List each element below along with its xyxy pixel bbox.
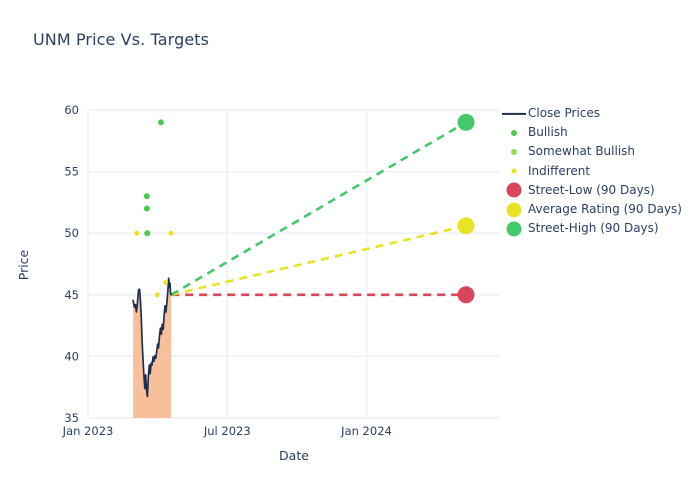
legend-item-label: Somewhat Bullish	[528, 142, 635, 161]
legend-item[interactable]: Average Rating (90 Days)	[500, 200, 698, 219]
dot-swatch-icon	[511, 130, 517, 136]
line-swatch-icon	[502, 113, 526, 115]
area-fill	[133, 278, 171, 418]
x-tick-label: Jul 2023	[203, 424, 251, 438]
y-axis-tick-labels: 354045505560	[64, 103, 79, 425]
price-area-fill	[133, 278, 171, 418]
scatter-points[interactable]	[134, 119, 173, 297]
y-tick-label: 60	[64, 103, 79, 117]
chart-page: UNM Price Vs. Targets 354045505560 Jan 2…	[0, 0, 700, 500]
legend-dot-icon	[500, 219, 528, 238]
legend-dot-icon	[500, 123, 528, 142]
dot-swatch-icon	[507, 183, 522, 198]
legend-dot-icon	[500, 142, 528, 161]
scatter-point[interactable]	[163, 280, 168, 285]
legend-item-label: Average Rating (90 Days)	[528, 200, 682, 219]
target-dashed-line	[171, 226, 466, 295]
legend-dot-icon	[500, 162, 528, 181]
y-tick-label: 35	[64, 411, 79, 425]
dot-swatch-icon	[512, 169, 517, 174]
y-tick-label: 55	[64, 165, 79, 179]
legend-dot-icon	[500, 181, 528, 200]
scatter-point[interactable]	[158, 119, 164, 125]
legend-item-label: Indifferent	[528, 162, 590, 181]
x-tick-label: Jan 2024	[340, 424, 392, 438]
legend-item[interactable]: Indifferent	[500, 162, 698, 181]
chart-legend: Close PricesBullishSomewhat BullishIndif…	[500, 104, 698, 238]
legend-dot-icon	[500, 200, 528, 219]
legend-item-label: Bullish	[528, 123, 568, 142]
legend-item[interactable]: Bullish	[500, 123, 698, 142]
target-dashed-line	[171, 122, 466, 294]
legend-item[interactable]: Street-High (90 Days)	[500, 219, 698, 238]
scatter-point[interactable]	[144, 206, 150, 212]
y-tick-label: 40	[64, 349, 79, 363]
legend-line-icon	[500, 104, 528, 123]
scatter-point[interactable]	[144, 230, 150, 236]
x-gridlines	[88, 110, 367, 418]
target-lines	[171, 122, 466, 294]
scatter-point[interactable]	[144, 193, 150, 199]
y-tick-label: 45	[64, 288, 79, 302]
legend-item[interactable]: Street-Low (90 Days)	[500, 181, 698, 200]
target-markers[interactable]	[458, 114, 475, 303]
target-marker[interactable]	[458, 286, 475, 303]
scatter-point[interactable]	[134, 231, 139, 236]
x-axis-title: Date	[279, 448, 309, 463]
dot-swatch-icon	[511, 149, 517, 155]
legend-item[interactable]: Close Prices	[500, 104, 698, 123]
x-axis-tick-labels: Jan 2023Jul 2023Jan 2024	[62, 424, 392, 438]
legend-item-label: Street-High (90 Days)	[528, 219, 659, 238]
dot-swatch-icon	[507, 221, 522, 236]
x-tick-label: Jan 2023	[62, 424, 114, 438]
scatter-point[interactable]	[155, 292, 160, 297]
legend-item-label: Close Prices	[528, 104, 600, 123]
scatter-point[interactable]	[169, 231, 174, 236]
y-axis-title: Price	[16, 249, 31, 280]
y-tick-label: 50	[64, 226, 79, 240]
legend-item[interactable]: Somewhat Bullish	[500, 142, 698, 161]
target-marker[interactable]	[458, 114, 475, 131]
plot-area: 354045505560 Jan 2023Jul 2023Jan 2024 Pr…	[0, 0, 700, 500]
dot-swatch-icon	[507, 202, 522, 217]
target-marker[interactable]	[458, 217, 475, 234]
legend-item-label: Street-Low (90 Days)	[528, 181, 655, 200]
